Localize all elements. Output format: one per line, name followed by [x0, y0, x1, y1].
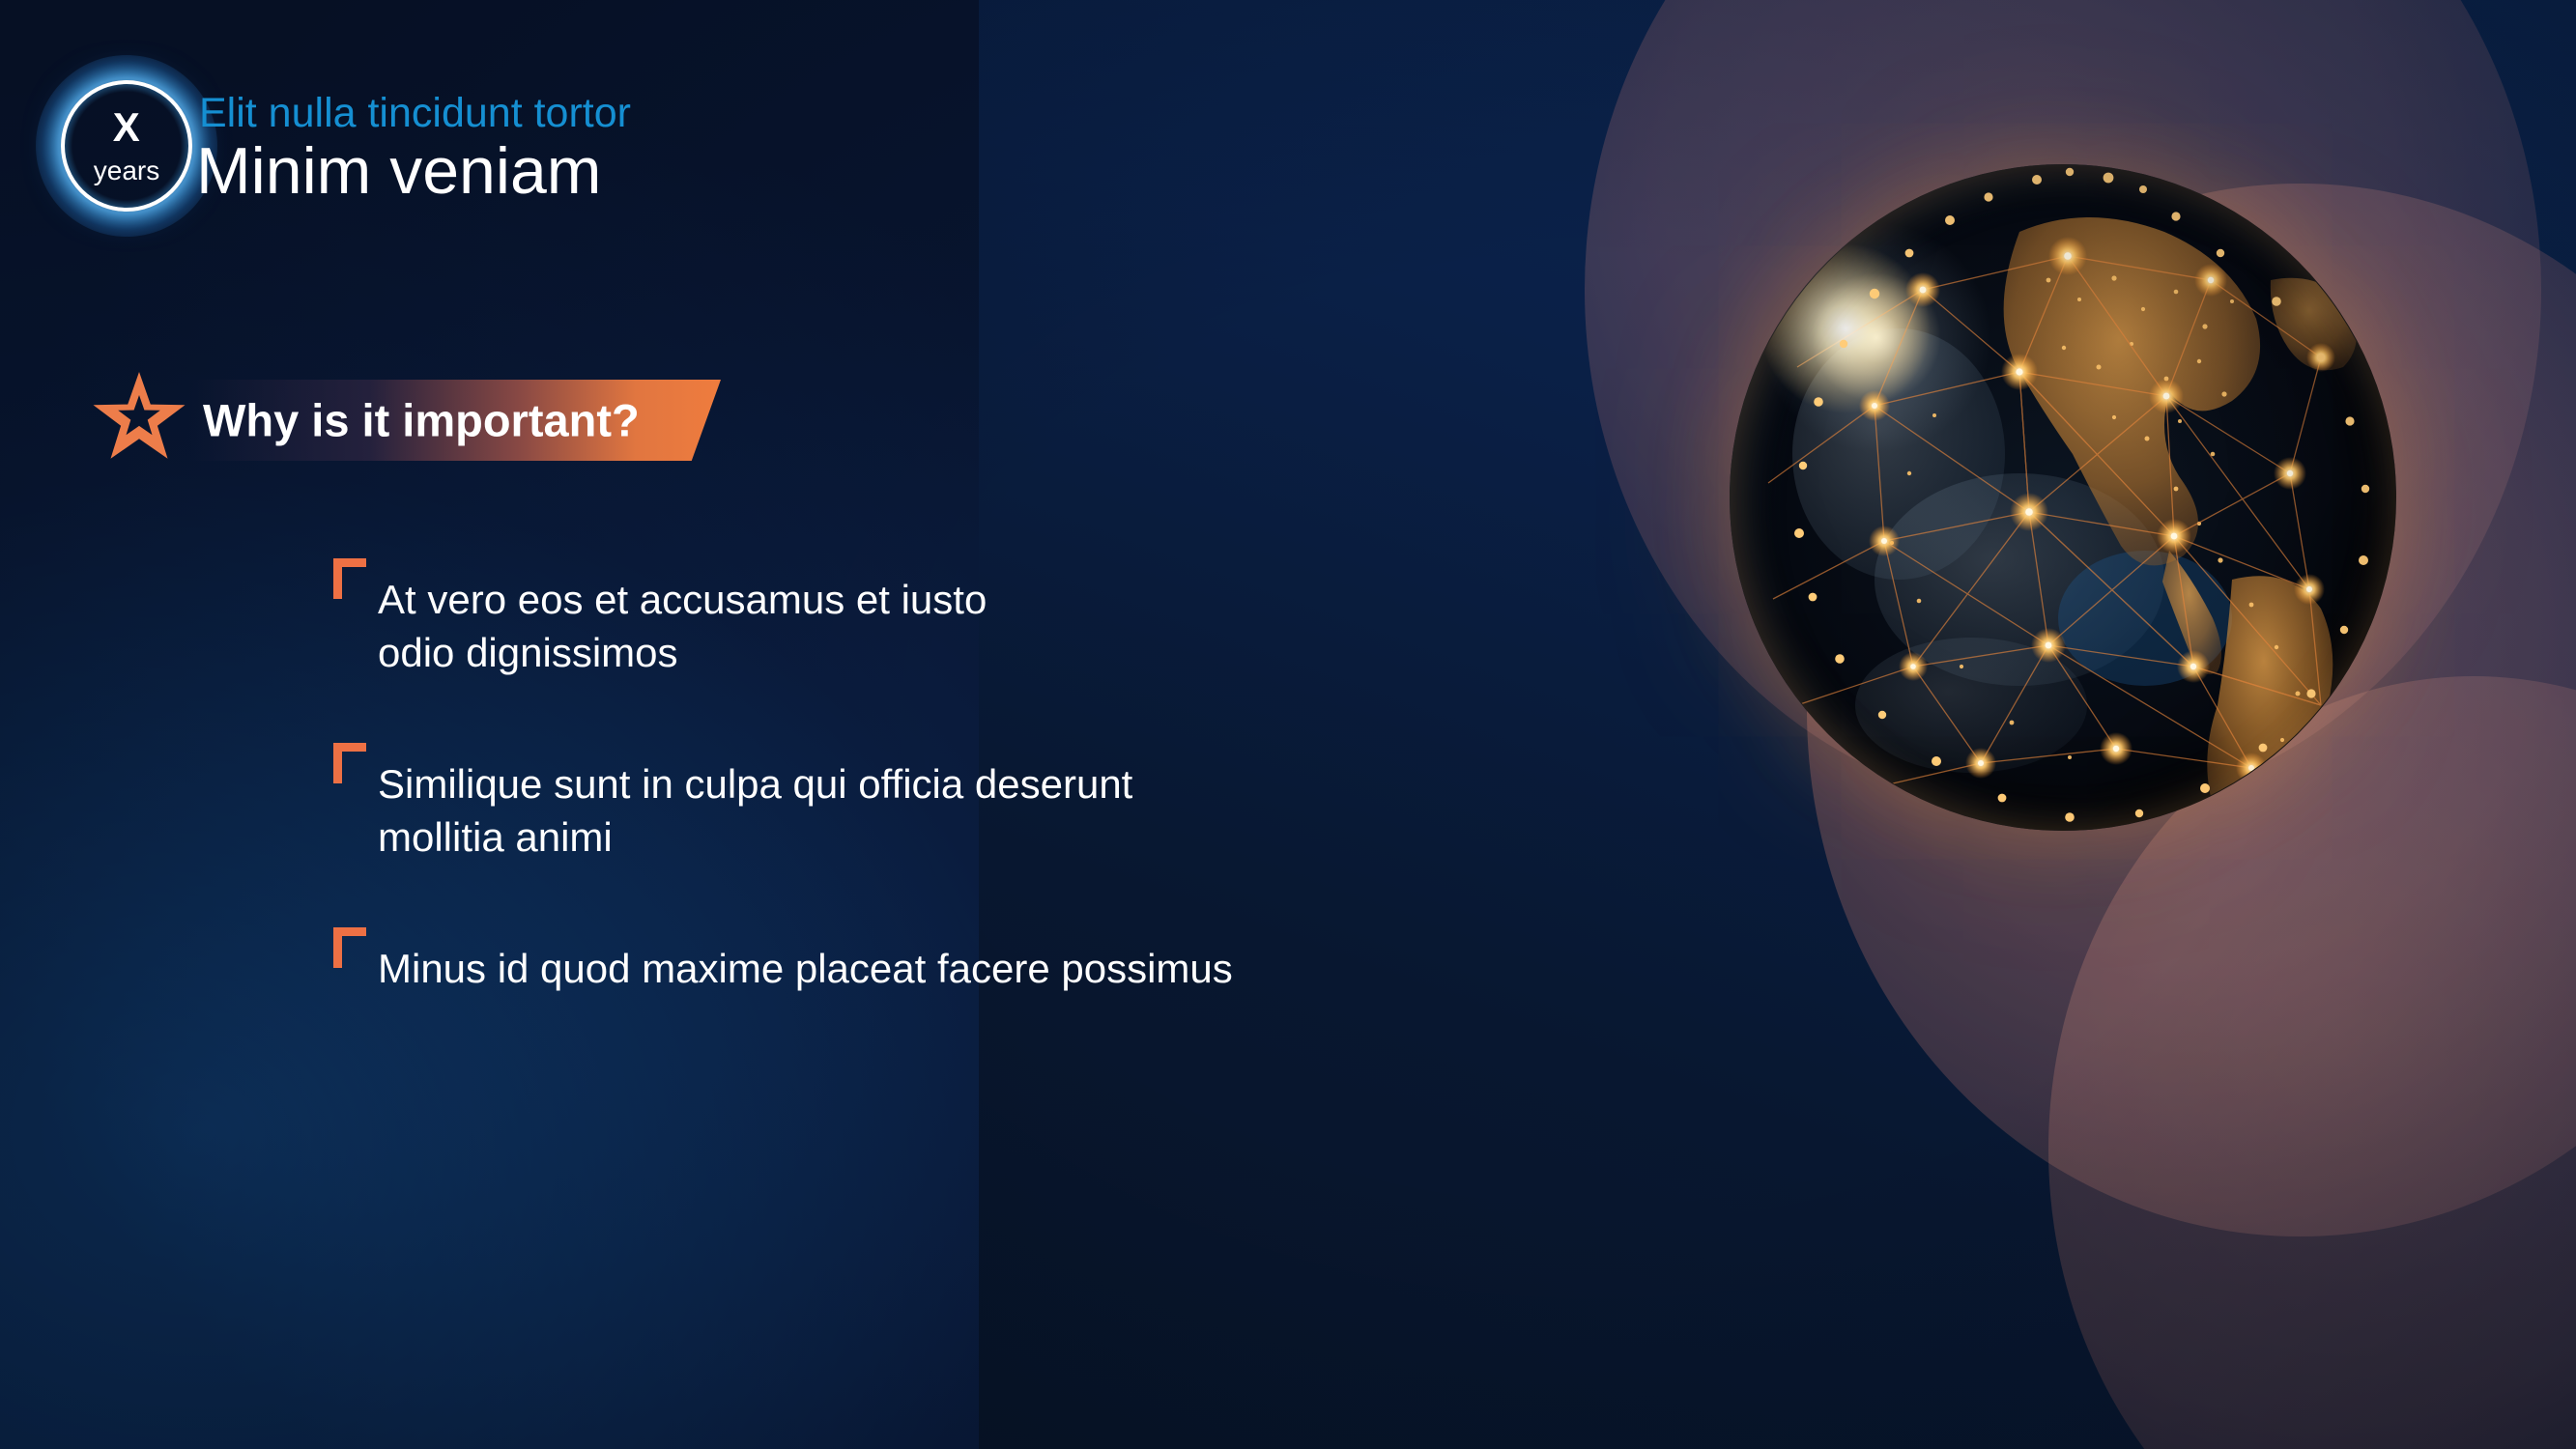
list-item-text: Similique sunt in culpa qui officia dese…: [378, 743, 1551, 864]
list-item-text: Minus id quod maxime placeat facere poss…: [378, 927, 1551, 996]
list-item: Minus id quod maxime placeat facere poss…: [333, 927, 1551, 996]
badge-unit: years: [61, 157, 192, 185]
list-item-text: At vero eos et accusamus et iusto odio d…: [378, 558, 1551, 679]
corner-bracket-icon: [333, 743, 366, 783]
list-item: At vero eos et accusamus et iusto odio d…: [333, 558, 1551, 679]
section-banner: Why is it important?: [189, 380, 721, 461]
eyebrow-text: Elit nulla tincidunt tortor: [199, 91, 631, 136]
page-title: Minim veniam: [196, 134, 601, 208]
badge-value: X: [61, 107, 192, 148]
list-item: Similique sunt in culpa qui officia dese…: [333, 743, 1551, 864]
corner-bracket-icon: [333, 927, 366, 968]
bullet-list: At vero eos et accusamus et iusto odio d…: [333, 558, 1551, 996]
corner-bracket-icon: [333, 558, 366, 599]
star-outline-icon: [91, 370, 187, 463]
slide-canvas: X years Elit nulla tincidunt tortor Mini…: [0, 0, 2576, 1449]
banner-label: Why is it important?: [203, 394, 640, 447]
years-badge: X years: [61, 80, 192, 212]
